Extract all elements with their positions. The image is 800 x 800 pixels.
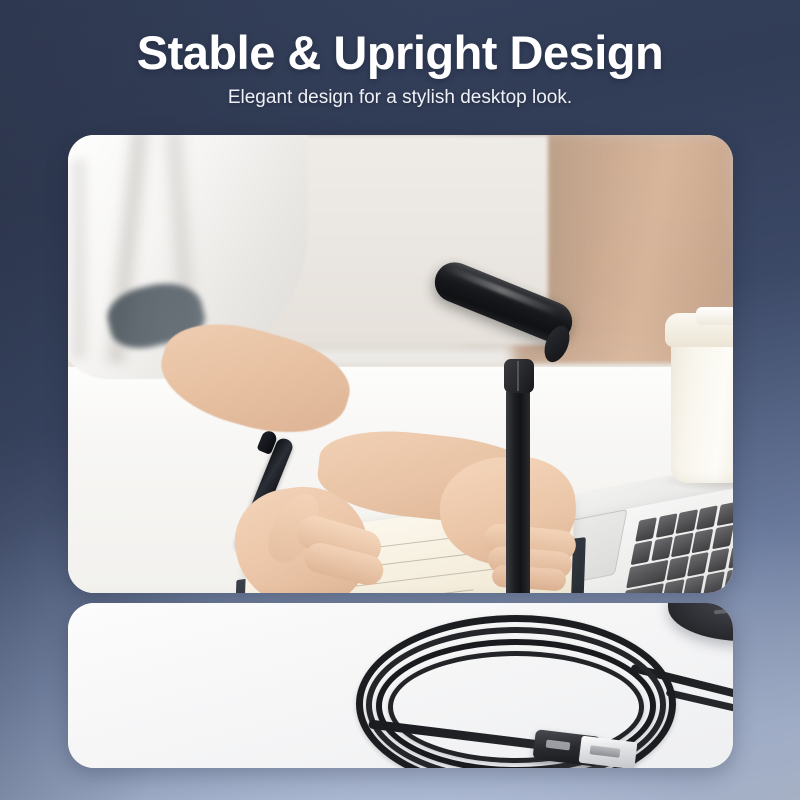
keyboard-key: [696, 505, 718, 529]
keyboard-key: [703, 571, 725, 593]
keyboard-key: [676, 509, 698, 533]
header: Stable & Upright Design Elegant design f…: [0, 0, 800, 109]
keyboard-key: [692, 529, 714, 553]
keyboard-key: [667, 556, 689, 580]
keyboard-key: [683, 575, 705, 593]
keyboard-key: [656, 513, 678, 537]
shirt-fold: [68, 159, 90, 359]
keyboard-key: [717, 501, 733, 525]
lamp-pivot-seam: [517, 361, 519, 391]
keyboard-key: [723, 567, 733, 591]
keyboard-key: [631, 540, 653, 564]
keyboard-key: [708, 548, 730, 572]
page-subtitle: Elegant design for a stylish desktop loo…: [0, 87, 800, 109]
keyboard-key: [712, 525, 733, 549]
tumbler-body: [671, 331, 733, 483]
feature-card-two-meter-cable: 2-Meter Cable Flexible Placement: [68, 603, 733, 768]
page-title: Stable & Upright Design: [0, 28, 800, 77]
keyboard-key: [635, 517, 657, 541]
poster-background: Stable & Upright Design Elegant design f…: [0, 0, 800, 800]
keyboard-key: [662, 579, 684, 593]
keyboard-key: [687, 552, 709, 576]
tumbler-lid-tab: [696, 307, 733, 325]
desk-scene-photo: [68, 135, 733, 593]
keyboard-key: [671, 533, 693, 557]
keyboard-key: [651, 537, 673, 561]
keyboard-key: [719, 591, 733, 593]
feature-card-metallic-finish: Metallic Finish Scratch-Resistant: [68, 135, 733, 593]
cable-scene-photo: [68, 603, 733, 768]
lamp-pivot-joint: [504, 359, 534, 393]
lamp-pole: [506, 387, 530, 593]
